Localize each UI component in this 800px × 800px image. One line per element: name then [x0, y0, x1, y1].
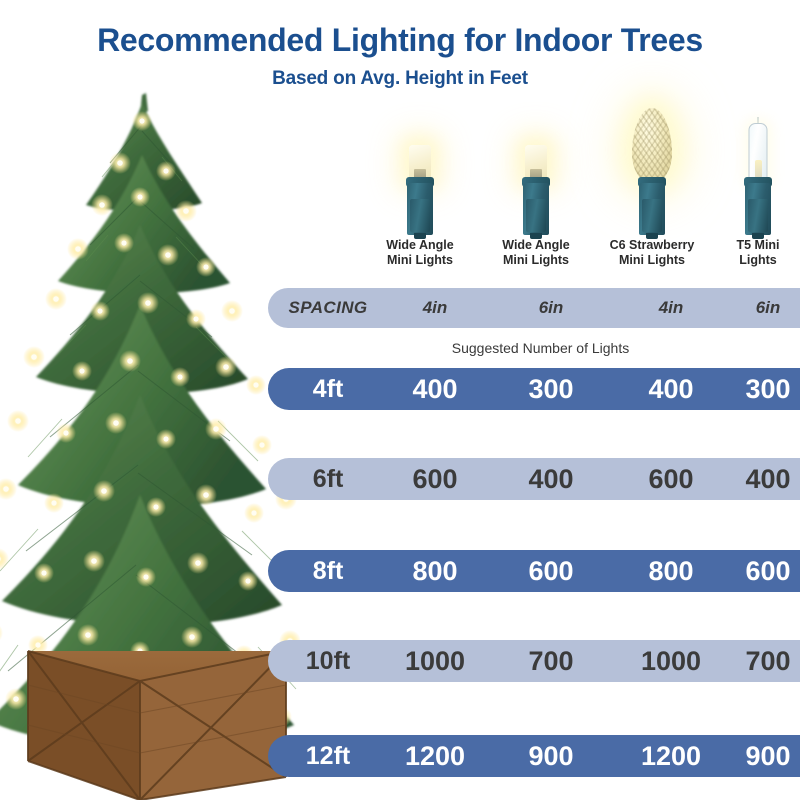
bulb-label-line2: Mini Lights: [387, 253, 453, 267]
row-value-col-1: 400: [380, 368, 490, 410]
bulb-label-line1: Wide Angle: [386, 238, 453, 252]
spacing-value-col-2: 6in: [496, 288, 606, 328]
bulb-label-line1: Wide Angle: [502, 238, 569, 252]
t5-mini-light-bulb-icon: [708, 100, 800, 235]
bulb-lens: [632, 108, 672, 182]
row-value-col-1: 600: [380, 458, 490, 500]
bulb-column-wide-angle-2: Wide Angle Mini Lights: [486, 100, 586, 280]
wide-angle-mini-light-bulb-icon: [370, 100, 470, 235]
row-height-label: 4ft: [268, 368, 388, 410]
bulb-column-t5-mini: T5 Mini Lights: [708, 100, 800, 280]
table-row: 6ft 600 400 600 400: [268, 458, 800, 500]
row-value-col-2: 700: [496, 640, 606, 682]
row-value-col-3: 400: [612, 368, 730, 410]
bulb-lens: [409, 145, 431, 179]
c6-strawberry-mini-light-bulb-icon: [602, 100, 702, 235]
row-value-col-3: 800: [612, 550, 730, 592]
row-value-col-1: 1200: [380, 735, 490, 777]
row-value-col-4: 700: [718, 640, 800, 682]
row-value-col-4: 300: [718, 368, 800, 410]
bulb-socket: [745, 183, 771, 235]
row-value-col-3: 600: [612, 458, 730, 500]
row-height-label: 10ft: [268, 640, 388, 682]
christmas-tree-image: [0, 85, 300, 800]
bulb-socket: [639, 183, 665, 235]
bulb-column-label: Wide Angle Mini Lights: [370, 238, 470, 267]
row-value-col-1: 800: [380, 550, 490, 592]
bulb-label-line1: T5 Mini: [736, 238, 779, 252]
spacing-row: SPACING 4in 6in 4in 6in: [268, 288, 800, 328]
row-height-label: 8ft: [268, 550, 388, 592]
page-subtitle: Based on Avg. Height in Feet: [0, 68, 800, 90]
bulb-lens: [749, 123, 768, 183]
wooden-crate-planter: [28, 651, 286, 800]
table-row: 8ft 800 600 800 600: [268, 550, 800, 592]
row-value-col-2: 400: [496, 458, 606, 500]
bulb-label-line1: C6 Strawberry: [610, 238, 695, 252]
bulb-column-label: T5 Mini Lights: [708, 238, 800, 267]
spacing-value-col-1: 4in: [380, 288, 490, 328]
row-value-col-3: 1000: [612, 640, 730, 682]
row-value-col-4: 900: [718, 735, 800, 777]
row-value-col-1: 1000: [380, 640, 490, 682]
infographic-page: Recommended Lighting for Indoor Trees Ba…: [0, 0, 800, 800]
bulb-type-header-row: Wide Angle Mini Lights Wide Angle Mini L…: [370, 100, 800, 280]
bulb-label-line2: Mini Lights: [503, 253, 569, 267]
suggested-number-caption: Suggested Number of Lights: [268, 340, 800, 356]
bulb-column-label: Wide Angle Mini Lights: [486, 238, 586, 267]
bulb-socket: [523, 183, 549, 235]
page-title: Recommended Lighting for Indoor Trees: [0, 22, 800, 59]
bulb-label-line2: Lights: [739, 253, 777, 267]
spacing-value-col-3: 4in: [612, 288, 730, 328]
table-row: 12ft 1200 900 1200 900: [268, 735, 800, 777]
bulb-column-c6-strawberry: C6 Strawberry Mini Lights: [602, 100, 702, 280]
wide-angle-mini-light-bulb-icon: [486, 100, 586, 235]
table-row: 4ft 400 300 400 300: [268, 368, 800, 410]
bulb-lens: [525, 145, 547, 179]
row-value-col-2: 600: [496, 550, 606, 592]
bulb-label-line2: Mini Lights: [619, 253, 685, 267]
row-value-col-4: 400: [718, 458, 800, 500]
row-height-label: 12ft: [268, 735, 388, 777]
row-value-col-4: 600: [718, 550, 800, 592]
bulb-column-wide-angle-1: Wide Angle Mini Lights: [370, 100, 470, 280]
row-value-col-3: 1200: [612, 735, 730, 777]
row-value-col-2: 900: [496, 735, 606, 777]
christmas-tree-illustration: [0, 85, 300, 800]
table-row: 10ft 1000 700 1000 700: [268, 640, 800, 682]
spacing-row-label: SPACING: [268, 288, 388, 328]
row-height-label: 6ft: [268, 458, 388, 500]
bulb-socket: [407, 183, 433, 235]
row-value-col-2: 300: [496, 368, 606, 410]
bulb-column-label: C6 Strawberry Mini Lights: [602, 238, 702, 267]
spacing-value-col-4: 6in: [718, 288, 800, 328]
